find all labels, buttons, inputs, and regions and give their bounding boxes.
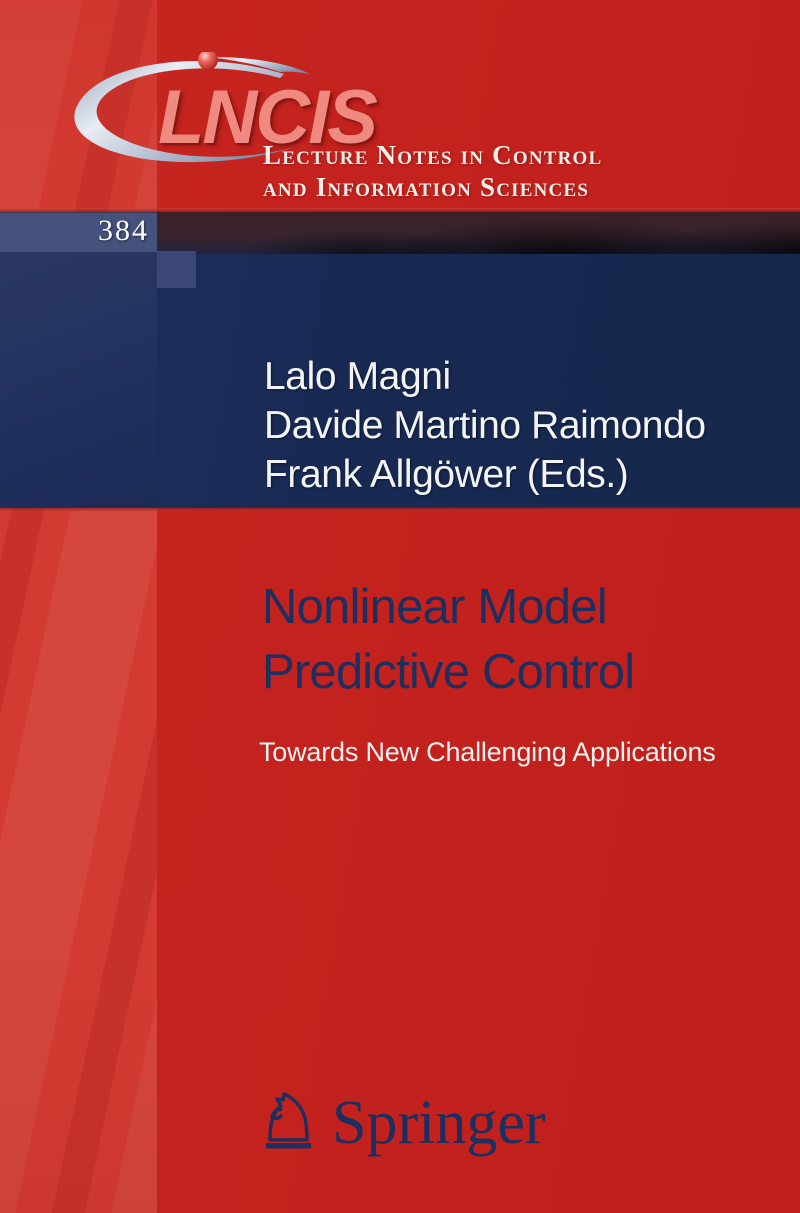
- series-logo: LNCIS Lecture Notes in Control and Infor…: [58, 52, 718, 200]
- book-cover: LNCIS Lecture Notes in Control and Infor…: [0, 0, 800, 1213]
- book-title: Nonlinear Model Predictive Control: [262, 575, 782, 705]
- author-name: Frank Allgöwer (Eds.): [264, 450, 784, 499]
- title-line-1: Nonlinear Model: [262, 575, 782, 640]
- author-name: Lalo Magni: [264, 352, 784, 401]
- knight-chess-piece-icon: [250, 1082, 322, 1154]
- background-accent-square: [157, 251, 196, 288]
- publisher-name: Springer: [332, 1092, 546, 1154]
- background-seam-top: [0, 208, 800, 213]
- series-title-line-1: Lecture Notes in Control: [263, 140, 602, 172]
- author-list: Lalo Magni Davide Martino Raimondo Frank…: [264, 352, 784, 499]
- volume-number: 384: [0, 214, 149, 248]
- publisher-logo: Springer: [250, 1082, 546, 1154]
- background-seam-bottom: [0, 506, 800, 511]
- background-blue-left-strip: [0, 212, 157, 508]
- series-title-line-2: and Information Sciences: [263, 172, 602, 204]
- book-subtitle: Towards New Challenging Applications: [259, 737, 716, 768]
- author-name: Davide Martino Raimondo: [264, 401, 784, 450]
- series-title: Lecture Notes in Control and Information…: [263, 140, 602, 204]
- title-line-2: Predictive Control: [262, 640, 782, 705]
